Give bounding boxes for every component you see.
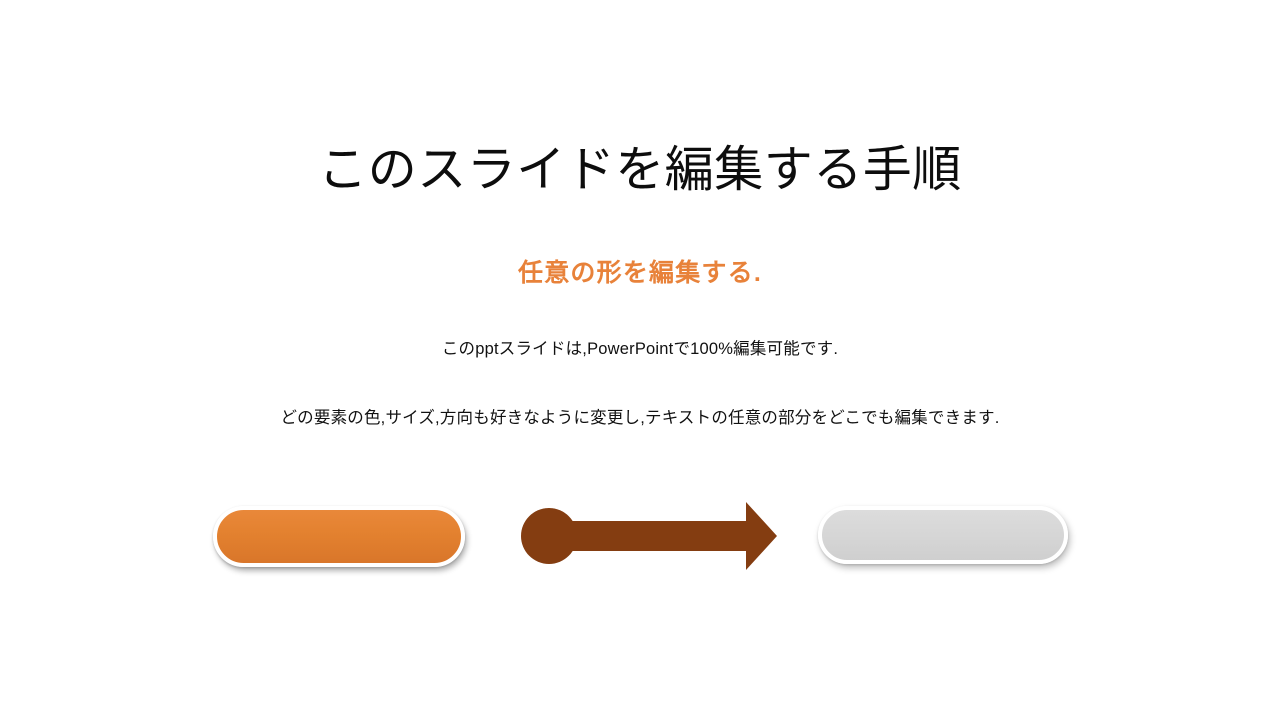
brown-circle-arrow-shape[interactable] [515, 500, 785, 572]
gray-rounded-rectangle-shape[interactable] [818, 506, 1068, 564]
body-text-line-1: このpptスライドは,PowerPointで100%編集可能です. [0, 338, 1280, 360]
brown-circle-arrow-icon [515, 500, 785, 572]
slide-subtitle: 任意の形を編集する. [0, 258, 1280, 288]
shape-row [0, 490, 1280, 600]
body-text-line-2: どの要素の色,サイズ,方向も好きなように変更し,テキストの任意の部分をどこでも編… [0, 407, 1280, 429]
slide-canvas: このスライドを編集する手順 任意の形を編集する. このpptスライドは,Powe… [0, 0, 1280, 720]
orange-rounded-rectangle-shape[interactable] [213, 506, 465, 567]
slide-title: このスライドを編集する手順 [0, 143, 1280, 198]
